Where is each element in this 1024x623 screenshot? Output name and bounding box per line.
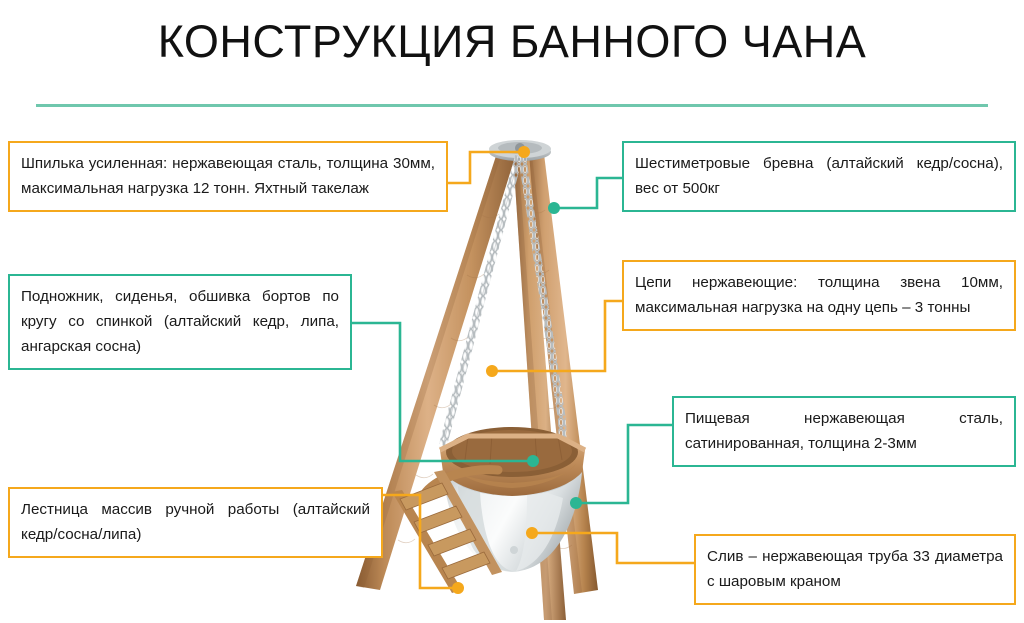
drain-outlet (510, 546, 518, 554)
callout-stud[interactable]: Шпилька усиленная: нержавеющая сталь, то… (8, 141, 448, 212)
title-divider (36, 104, 988, 107)
callout-steel-text: Пищевая нержавеющая сталь, сатинированна… (685, 406, 1003, 456)
callout-stud-text: Шпилька усиленная: нержавеющая сталь, то… (21, 151, 435, 201)
callout-ladder[interactable]: Лестница массив ручной работы (алтайский… (8, 487, 383, 558)
infographic-canvas: КОНСТРУКЦИЯ БАННОГО ЧАНА (0, 0, 1024, 623)
callout-drain-text: Слив – нержавеющая труба 33 диаметра с ш… (707, 544, 1003, 594)
page-title: КОНСТРУКЦИЯ БАННОГО ЧАНА (0, 14, 1024, 70)
callout-steel[interactable]: Пищевая нержавеющая сталь, сатинированна… (672, 396, 1016, 467)
callout-logs[interactable]: Шестиметровые бревна (алтайский кедр/сос… (622, 141, 1016, 212)
callout-logs-text: Шестиметровые бревна (алтайский кедр/сос… (635, 151, 1003, 201)
callout-ladder-text: Лестница массив ручной работы (алтайский… (21, 497, 370, 547)
callout-seats[interactable]: Подножник, сиденья, обшивка бортов по кр… (8, 274, 352, 370)
callout-chains[interactable]: Цепи нержавеющие: толщина звена 10мм, ма… (622, 260, 1016, 331)
callout-seats-text: Подножник, сиденья, обшивка бортов по кр… (21, 284, 339, 359)
callout-chains-text: Цепи нержавеющие: толщина звена 10мм, ма… (635, 270, 1003, 320)
callout-drain[interactable]: Слив – нержавеющая труба 33 диаметра с ш… (694, 534, 1016, 605)
